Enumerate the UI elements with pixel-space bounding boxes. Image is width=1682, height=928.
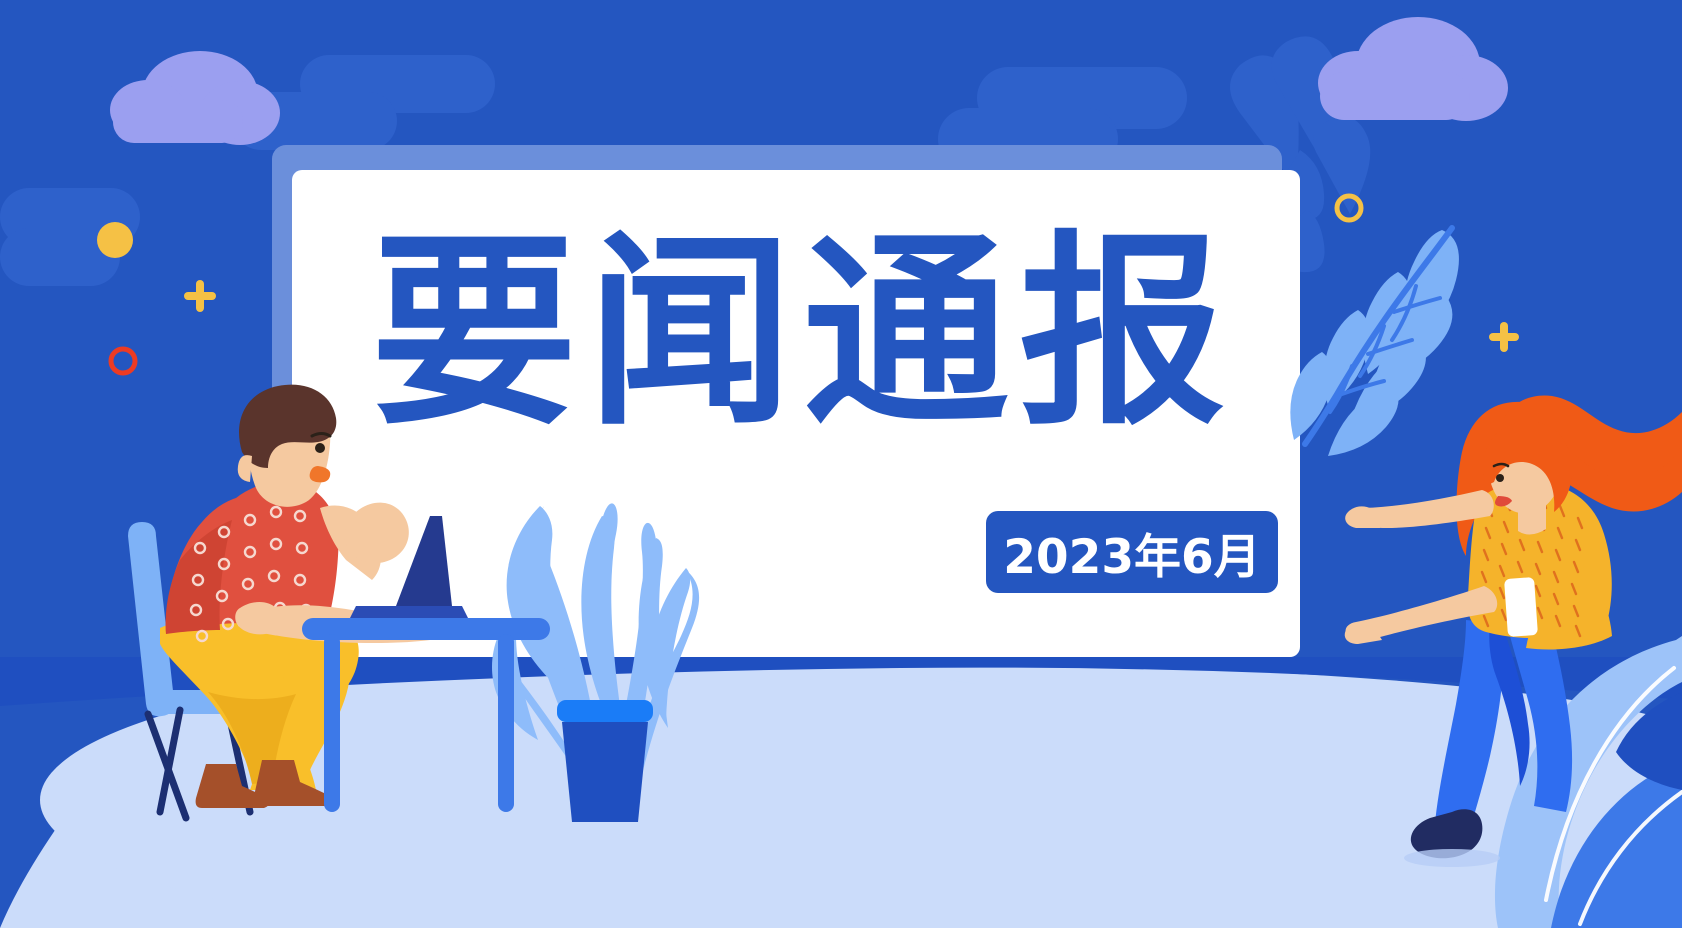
person-left-mouth [310, 466, 331, 482]
desk-leg-right [498, 634, 514, 812]
potted-plant-center-icon [492, 503, 699, 822]
cloud-top-left-icon [110, 51, 280, 145]
person-right-eye [1496, 474, 1504, 482]
desk-top [302, 618, 550, 640]
ring-red-left-icon [111, 349, 135, 373]
person-left-ear [238, 455, 252, 482]
person-at-desk-left [160, 385, 438, 808]
person-right-phone [1504, 577, 1538, 637]
laptop-base [350, 606, 468, 618]
news-banner: 要闻通报 2023年6月 [0, 0, 1682, 928]
dot-yellow-left-icon [97, 222, 133, 258]
ring-yellow-right-icon [1337, 196, 1361, 220]
pot-body [562, 722, 648, 822]
pot-rim [557, 700, 653, 722]
plus-yellow-right-icon [1489, 322, 1519, 352]
desk-left [302, 618, 550, 812]
person-right-shoe-shadow [1404, 849, 1500, 867]
person-right-neck [1518, 505, 1546, 535]
desk-leg-left [324, 634, 340, 812]
person-left-eye [315, 443, 325, 453]
illustration-layer [0, 0, 1682, 928]
plus-yellow-left-icon [184, 280, 216, 312]
cloud-top-right-icon [1318, 17, 1508, 121]
person-left-shoe-front [254, 760, 335, 806]
branch-leaf-right-icon [1290, 228, 1459, 456]
